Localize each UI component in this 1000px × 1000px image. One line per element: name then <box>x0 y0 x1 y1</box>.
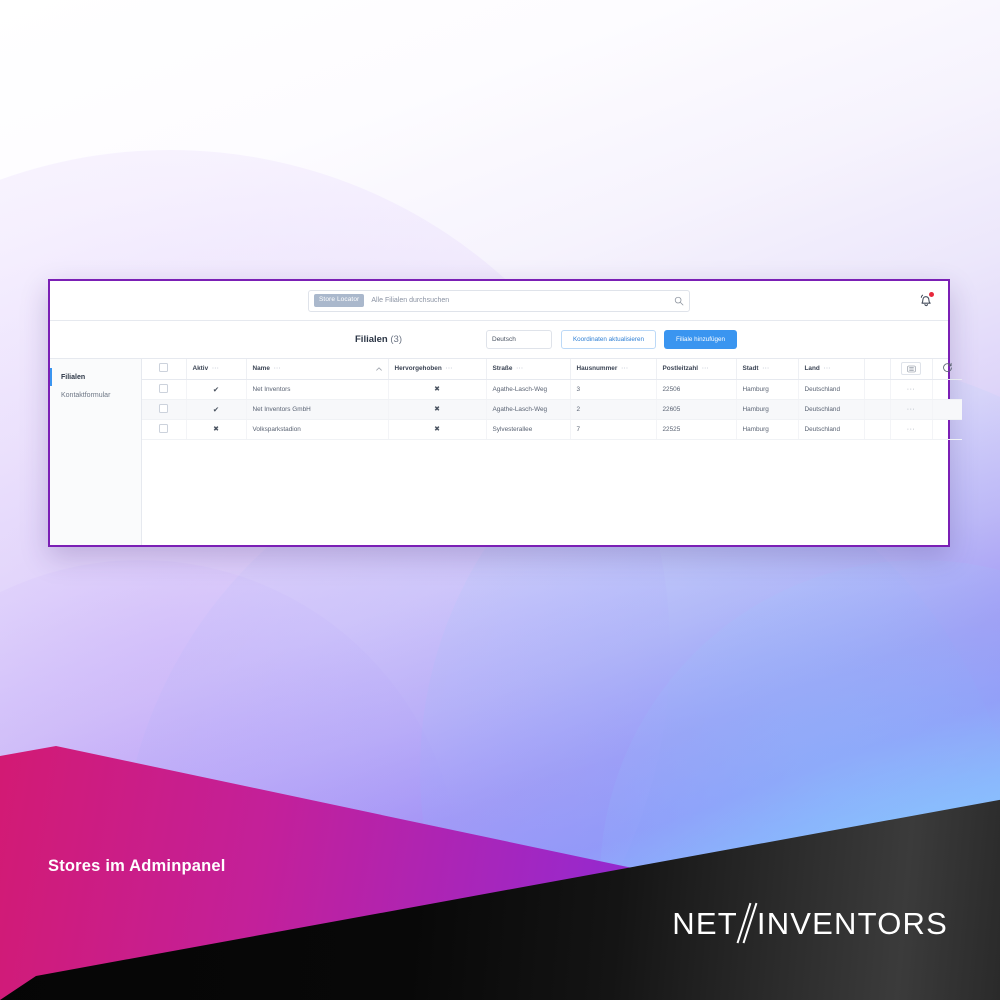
cell-postleitzahl: 22506 <box>656 379 736 399</box>
cell-trailing <box>932 399 962 419</box>
logo-double-slash-icon <box>739 904 756 944</box>
column-header-spacer <box>864 359 890 379</box>
column-menu-icon[interactable]: ··· <box>824 366 831 372</box>
column-menu-icon[interactable]: ··· <box>702 366 709 372</box>
sort-ascending-icon[interactable] <box>376 367 382 371</box>
cell-strasse: Sylvesterallee <box>486 419 570 439</box>
page-title-count: (3) <box>390 334 402 345</box>
cell-hervorgehoben: ✖ <box>388 379 486 399</box>
cell-hausnummer: 3 <box>570 379 656 399</box>
table-row[interactable]: ✖ Volksparkstadion ✖ Sylvesterallee 7 22… <box>142 419 962 439</box>
language-select-value: Deutsch <box>492 336 516 343</box>
row-select-cell[interactable] <box>142 399 186 419</box>
table-row[interactable]: ✔ Net Inventors GmbH ✖ Agathe-Lasch-Weg … <box>142 399 962 419</box>
row-checkbox[interactable] <box>159 424 168 433</box>
sidebar: Filialen Kontaktformular <box>50 359 142 545</box>
row-menu-icon[interactable]: ··· <box>907 426 916 433</box>
sidebar-item-label: Kontaktformular <box>61 392 110 399</box>
cell-trailing <box>932 379 962 399</box>
refresh-header[interactable] <box>932 359 962 379</box>
row-checkbox[interactable] <box>159 404 168 413</box>
select-all-header[interactable] <box>142 359 186 379</box>
column-label: Name <box>253 365 270 372</box>
column-header-aktiv[interactable]: Aktiv ··· <box>186 359 246 379</box>
column-label: Hausnummer <box>577 365 618 372</box>
row-menu-icon[interactable]: ··· <box>907 406 916 413</box>
cell-name: Net Inventors <box>246 379 388 399</box>
page-title: Filialen (3) <box>355 334 402 345</box>
notification-bell-button[interactable] <box>918 292 934 308</box>
search-icon[interactable] <box>674 296 684 306</box>
cell-postleitzahl: 22605 <box>656 399 736 419</box>
row-select-cell[interactable] <box>142 379 186 399</box>
search-input[interactable]: Alle Filialen durchsuchen <box>371 297 674 304</box>
column-menu-icon[interactable]: ··· <box>516 366 523 372</box>
page-title-text: Filialen <box>355 334 388 345</box>
chevron-down-icon <box>540 338 546 342</box>
table-header-row: Aktiv ··· Name ··· <box>142 359 962 379</box>
row-checkbox[interactable] <box>159 384 168 393</box>
active-cross-icon: ✖ <box>213 426 219 433</box>
column-menu-icon[interactable]: ··· <box>274 366 281 372</box>
active-check-icon: ✔ <box>213 385 219 394</box>
cell-name: Volksparkstadion <box>246 419 388 439</box>
stores-table: Aktiv ··· Name ··· <box>142 359 962 440</box>
featured-cross-icon: ✖ <box>434 406 440 413</box>
sidebar-item-filialen[interactable]: Filialen <box>50 368 141 386</box>
cell-spacer <box>864 419 890 439</box>
cell-land: Deutschland <box>798 379 864 399</box>
column-header-land[interactable]: Land ··· <box>798 359 864 379</box>
cell-spacer <box>864 379 890 399</box>
sidebar-item-kontaktformular[interactable]: Kontaktformular <box>50 386 141 404</box>
column-label: Postleitzahl <box>663 365 699 372</box>
column-label: Aktiv <box>193 365 209 372</box>
cell-name: Net Inventors GmbH <box>246 399 388 419</box>
cell-hervorgehoben: ✖ <box>388 399 486 419</box>
cell-postleitzahl: 22525 <box>656 419 736 439</box>
column-label: Hervorgehoben <box>395 365 442 372</box>
list-settings-glyph <box>907 365 916 373</box>
cell-stadt: Hamburg <box>736 379 798 399</box>
column-label: Land <box>805 365 820 372</box>
column-menu-icon[interactable]: ··· <box>762 366 769 372</box>
cell-hausnummer: 2 <box>570 399 656 419</box>
net-inventors-logo: NET INVENTORS <box>672 904 948 944</box>
featured-cross-icon: ✖ <box>434 426 440 433</box>
select-all-checkbox[interactable] <box>159 363 168 372</box>
search-scope-chip[interactable]: Store Locator <box>314 294 364 307</box>
cell-hausnummer: 7 <box>570 419 656 439</box>
refresh-icon[interactable] <box>942 362 953 373</box>
column-label: Straße <box>493 365 513 372</box>
sidebar-item-label: Filialen <box>61 374 85 381</box>
cell-stadt: Hamburg <box>736 419 798 439</box>
column-menu-icon[interactable]: ··· <box>446 366 453 372</box>
add-store-button[interactable]: Filiale hinzufügen <box>664 330 737 349</box>
stores-table-wrapper: Aktiv ··· Name ··· <box>142 359 948 545</box>
cell-strasse: Agathe-Lasch-Weg <box>486 379 570 399</box>
column-header-postleitzahl[interactable]: Postleitzahl ··· <box>656 359 736 379</box>
table-empty-area <box>142 440 948 546</box>
global-search-field[interactable]: Store Locator Alle Filialen durchsuchen <box>308 290 690 312</box>
footer-caption: Stores im Adminpanel <box>48 857 226 876</box>
column-header-stadt[interactable]: Stadt ··· <box>736 359 798 379</box>
row-actions-cell[interactable]: ··· <box>890 399 932 419</box>
table-body: ✔ Net Inventors ✖ Agathe-Lasch-Weg 3 225… <box>142 379 962 439</box>
column-header-name[interactable]: Name ··· <box>246 359 388 379</box>
cell-spacer <box>864 399 890 419</box>
logo-text-net: NET <box>672 906 738 942</box>
cell-trailing <box>932 419 962 439</box>
panel-body: Filialen Kontaktformular <box>50 359 948 545</box>
cell-aktiv: ✔ <box>186 399 246 419</box>
update-coordinates-button[interactable]: Koordinaten aktualisieren <box>561 330 656 349</box>
language-select[interactable]: Deutsch <box>486 330 552 349</box>
row-select-cell[interactable] <box>142 419 186 439</box>
row-menu-icon[interactable]: ··· <box>907 386 916 393</box>
table-row[interactable]: ✔ Net Inventors ✖ Agathe-Lasch-Weg 3 225… <box>142 379 962 399</box>
cell-stadt: Hamburg <box>736 399 798 419</box>
list-settings-icon[interactable] <box>901 362 921 375</box>
column-menu-icon[interactable]: ··· <box>212 366 219 372</box>
admin-panel-window: Store Locator Alle Filialen durchsuchen … <box>48 279 950 547</box>
featured-cross-icon: ✖ <box>434 386 440 393</box>
notification-badge-dot <box>929 292 934 297</box>
column-header-hervorgehoben[interactable]: Hervorgehoben ··· <box>388 359 486 379</box>
column-header-hausnummer[interactable]: Hausnummer ··· <box>570 359 656 379</box>
column-menu-icon[interactable]: ··· <box>621 366 628 372</box>
column-label: Stadt <box>743 365 759 372</box>
active-check-icon: ✔ <box>213 405 219 414</box>
cell-aktiv: ✖ <box>186 419 246 439</box>
logo-text-inventors: INVENTORS <box>757 906 948 942</box>
cell-hervorgehoben: ✖ <box>388 419 486 439</box>
row-actions-cell[interactable]: ··· <box>890 379 932 399</box>
column-header-strasse[interactable]: Straße ··· <box>486 359 570 379</box>
row-actions-cell[interactable]: ··· <box>890 419 932 439</box>
page-action-bar: Filialen (3) Deutsch Koordinaten aktuali… <box>50 321 948 359</box>
top-search-bar: Store Locator Alle Filialen durchsuchen <box>50 281 948 321</box>
column-settings-header[interactable] <box>890 359 932 379</box>
cell-aktiv: ✔ <box>186 379 246 399</box>
cell-land: Deutschland <box>798 419 864 439</box>
cell-strasse: Agathe-Lasch-Weg <box>486 399 570 419</box>
cell-land: Deutschland <box>798 399 864 419</box>
